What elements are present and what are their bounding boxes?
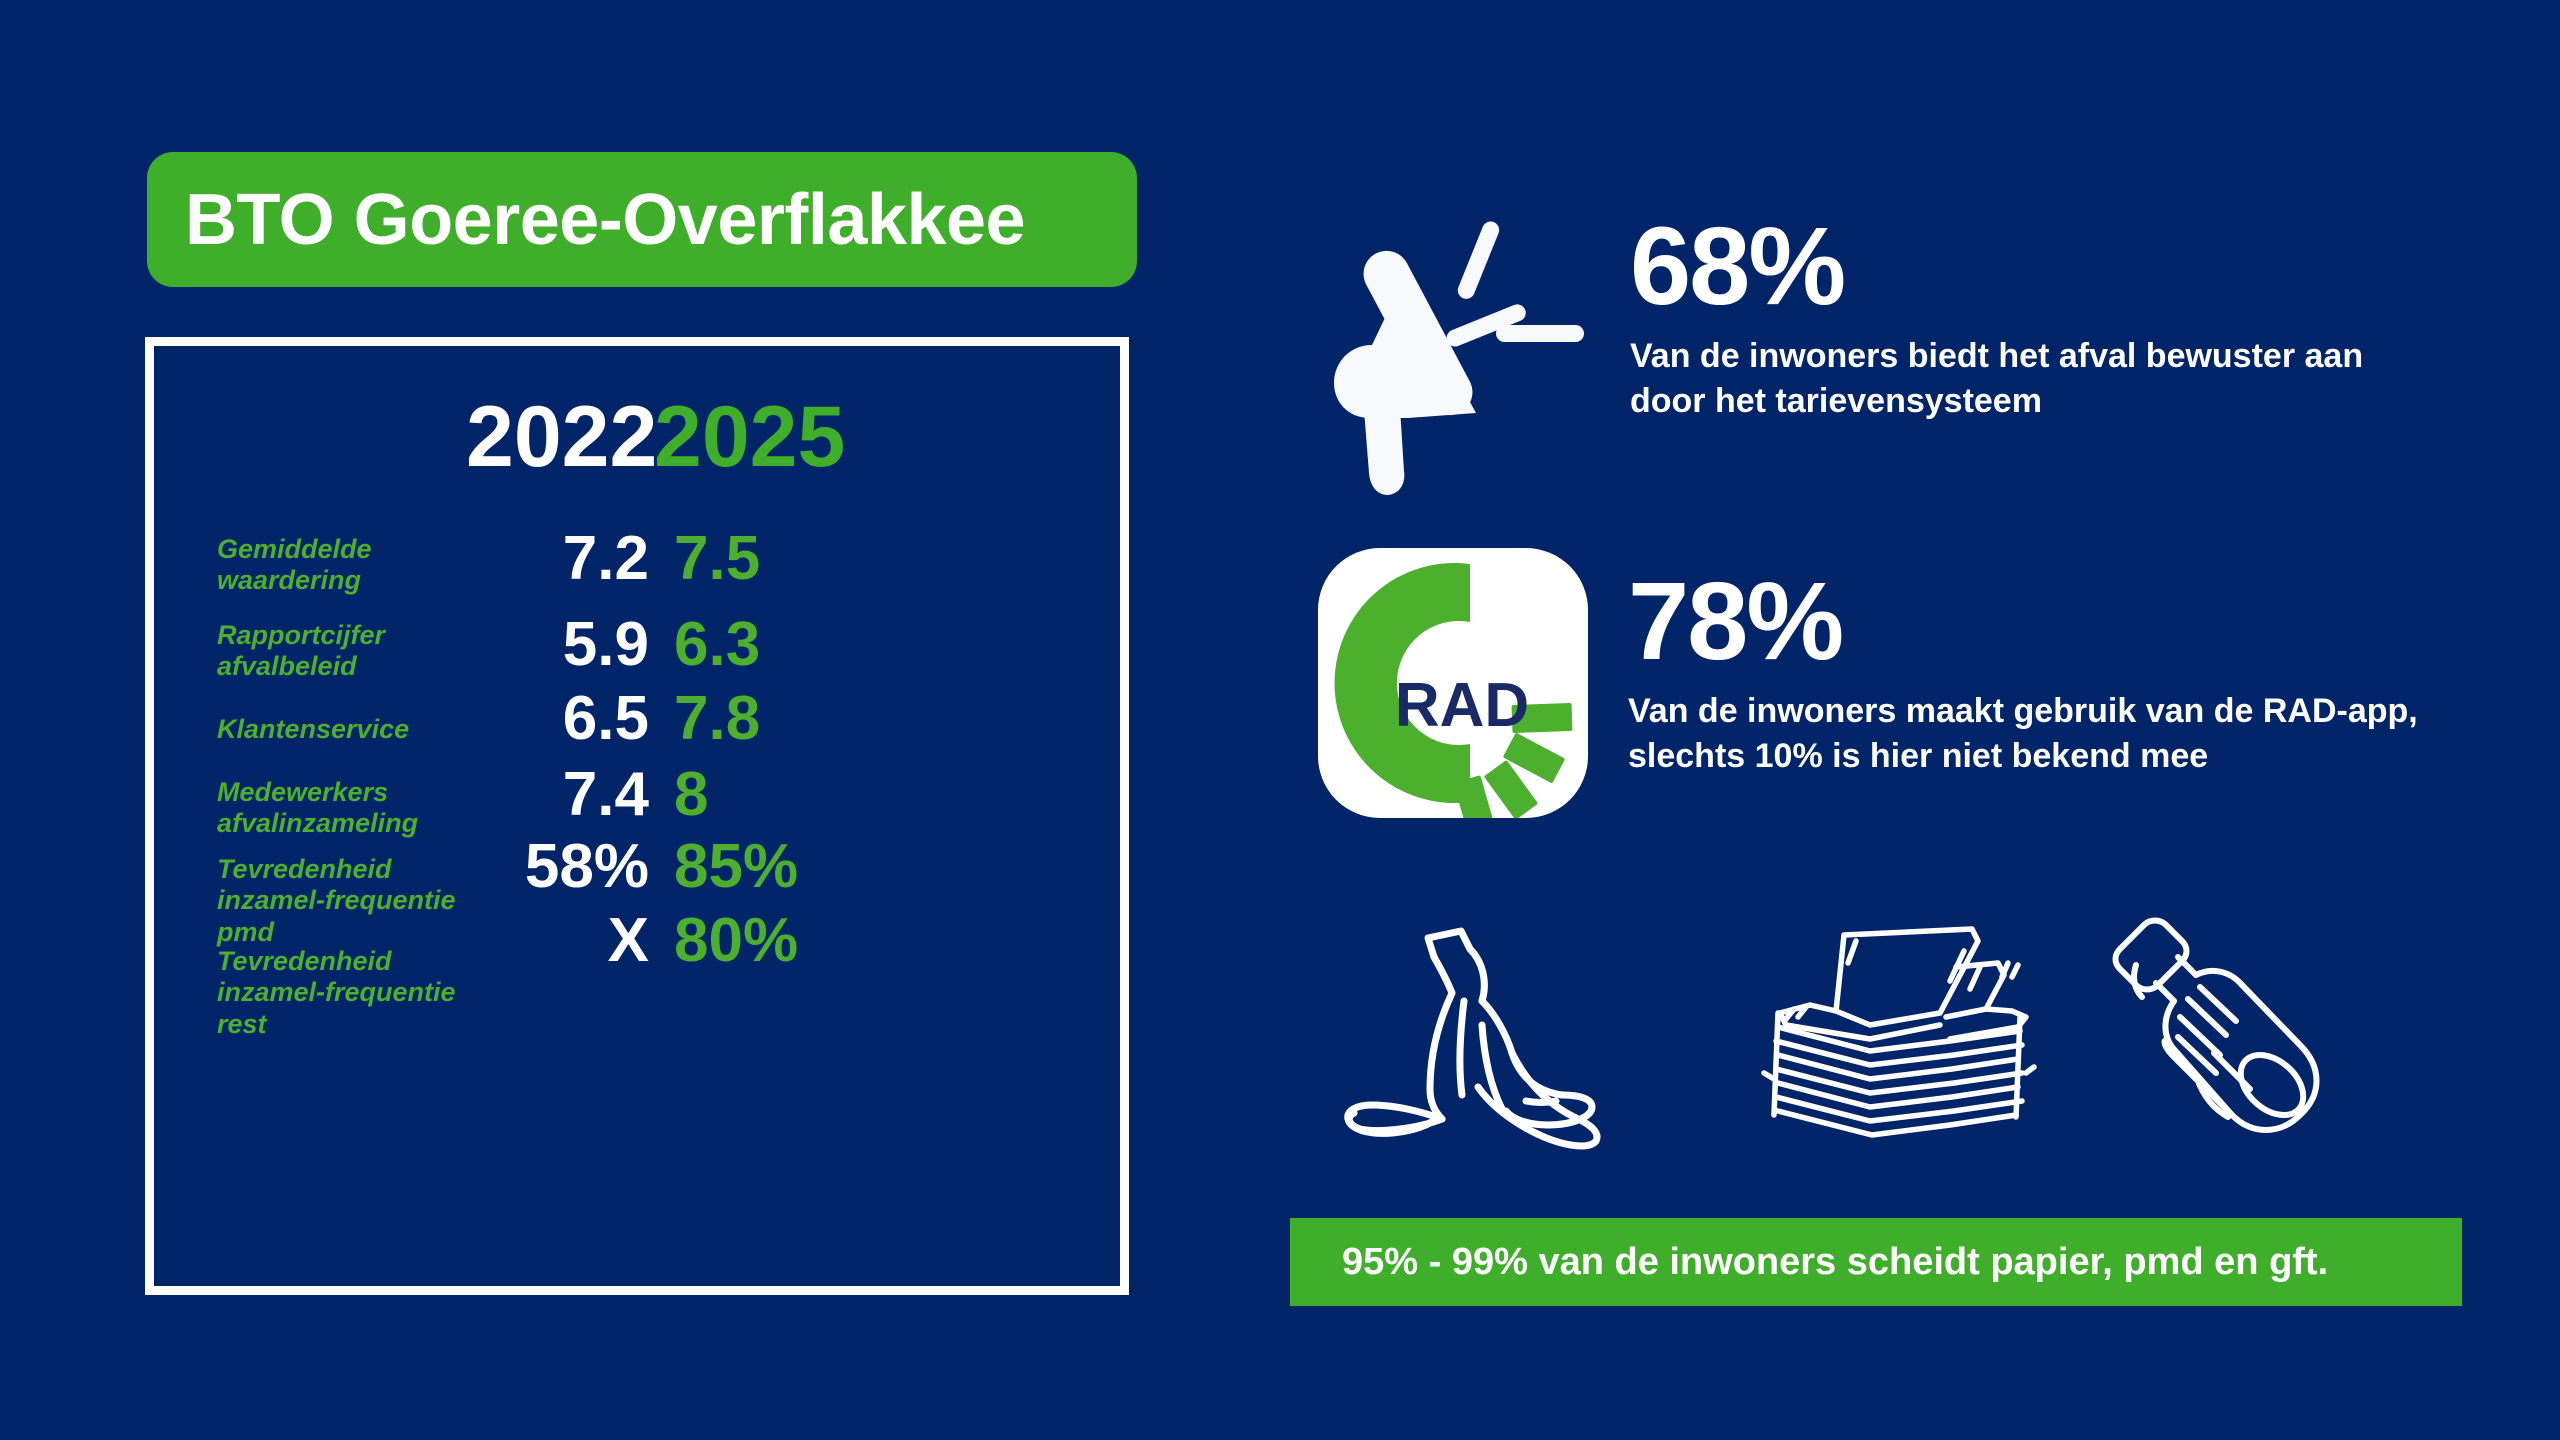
megaphone-icon	[1300, 205, 1600, 500]
row-value-2025: 7.5	[674, 528, 854, 590]
page-title: BTO Goeree-Overflakkee	[147, 179, 1025, 261]
paper-stack-icon	[1750, 905, 2050, 1160]
column-header-2022: 2022	[466, 394, 657, 480]
row-value-2025: 6.3	[674, 614, 854, 676]
waste-icons-row	[1330, 905, 2430, 1205]
stat-block-78: RAD 78% Van de inwoners maakt gebruik va…	[1318, 548, 2528, 848]
row-label: Gemiddelde waardering	[217, 534, 467, 597]
stat-78-value: 78%	[1628, 570, 2428, 675]
row-value-2025: 80%	[674, 910, 854, 972]
banana-peel-icon	[1330, 905, 1620, 1160]
stat-68-description: Van de inwoners biedt het afval bewuster…	[1630, 334, 2390, 424]
row-value-2025: 7.8	[674, 688, 854, 750]
row-value-2025: 8	[674, 764, 854, 826]
separation-banner-text: 95% - 99% van de inwoners scheidt papier…	[1290, 1241, 2328, 1284]
stat-78-description: Van de inwoners maakt gebruik van de RAD…	[1628, 689, 2428, 779]
row-value-2022: 58%	[474, 836, 649, 898]
separation-banner: 95% - 99% van de inwoners scheidt papier…	[1290, 1218, 2462, 1306]
rad-wordmark: RAD	[1395, 671, 1529, 740]
row-value-2022: 7.4	[474, 764, 649, 826]
results-table: 2022 2025 Gemiddelde waardering 7.2 7.5 …	[145, 337, 1129, 1295]
row-value-2022: X	[474, 910, 649, 972]
row-value-2022: 7.2	[474, 528, 649, 590]
plastic-bottle-icon	[2100, 905, 2350, 1160]
row-label: Rapportcijfer afvalbeleid	[217, 620, 467, 683]
row-value-2022: 5.9	[474, 614, 649, 676]
stat-68-value: 68%	[1630, 215, 2390, 320]
row-value-2022: 6.5	[474, 688, 649, 750]
row-label: Medewerkers afvalinzameling	[217, 777, 467, 840]
stat-68-text: 68% Van de inwoners biedt het afval bewu…	[1630, 215, 2390, 424]
row-value-2025: 85%	[674, 836, 854, 898]
infographic-canvas: BTO Goeree-Overflakkee 2022 2025 Gemidde…	[0, 0, 2560, 1440]
column-header-2025: 2025	[654, 394, 845, 480]
panel-title-pill: BTO Goeree-Overflakkee	[147, 152, 1137, 287]
row-label: Klantenservice	[217, 714, 467, 745]
row-label: Tevredenheid inzamel-frequentie pmd	[217, 854, 467, 948]
stat-block-68: 68% Van de inwoners biedt het afval bewu…	[1300, 205, 2500, 505]
stat-78-text: 78% Van de inwoners maakt gebruik van de…	[1628, 570, 2428, 779]
row-label: Tevredenheid inzamel-frequentie rest	[217, 946, 467, 1040]
